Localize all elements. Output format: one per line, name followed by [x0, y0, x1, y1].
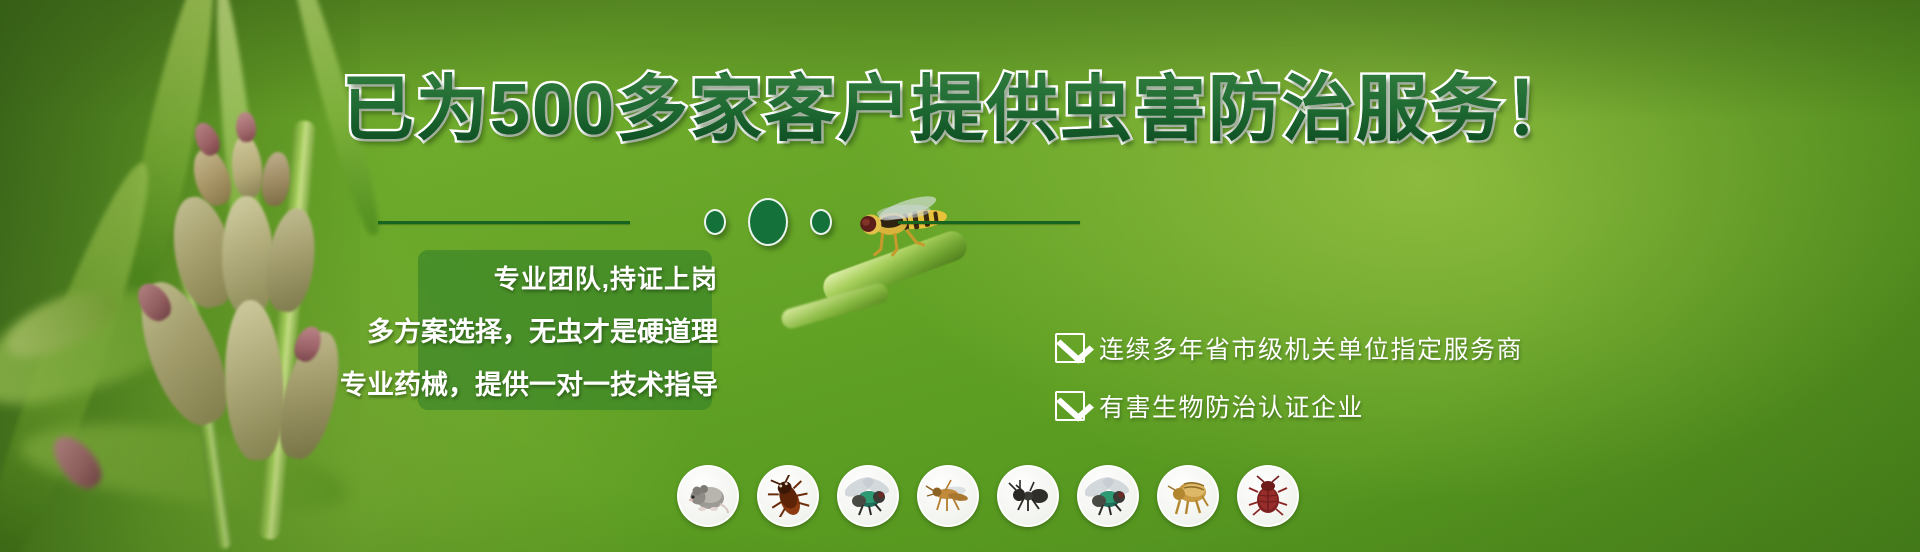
checklist-item: 有害生物防治认证企业	[1055, 388, 1523, 424]
ant-icon	[997, 465, 1059, 527]
divider-dot-large	[748, 198, 788, 246]
mosquito-icon	[917, 465, 979, 527]
feature-panel-text: 专业团队,持证上岗 多方案选择，无虫才是硬道理 专业药械，提供一对一技术指导	[330, 250, 730, 410]
flea-icon	[1157, 465, 1219, 527]
checkbox-checked-icon	[1055, 391, 1085, 421]
checkbox-checked-icon	[1055, 333, 1085, 363]
pest-control-promo-banner: 已为500多家客户提供虫害防治服务！ 已为500多家客户提供虫害防治服务！ 专业…	[0, 0, 1920, 552]
page-title: 已为500多家客户提供虫害防治服务！	[0, 74, 1920, 146]
feature-line-3: 专业药械，提供一对一技术指导	[340, 363, 718, 402]
checklist-item-label: 连续多年省市级机关单位指定服务商	[1099, 330, 1523, 366]
decorative-divider	[378, 200, 1448, 244]
checklist-item: 连续多年省市级机关单位指定服务商	[1055, 330, 1523, 366]
divider-line-right	[898, 221, 1080, 224]
cockroach-icon	[757, 465, 819, 527]
feature-line-1: 专业团队,持证上岗	[494, 259, 718, 296]
mouse-icon	[677, 465, 739, 527]
blowfly-icon	[1077, 465, 1139, 527]
checklist-item-label: 有害生物防治认证企业	[1099, 388, 1364, 424]
bedbug-icon	[1237, 465, 1299, 527]
credentials-checklist: 连续多年省市级机关单位指定服务商 有害生物防治认证企业	[1055, 330, 1523, 424]
feature-line-2: 多方案选择，无虫才是硬道理	[367, 310, 718, 349]
divider-line-left	[378, 221, 630, 224]
pest-icon-row	[677, 465, 1299, 527]
divider-dot-small	[810, 209, 832, 235]
fly-icon	[837, 465, 899, 527]
divider-dot-small	[704, 209, 726, 235]
